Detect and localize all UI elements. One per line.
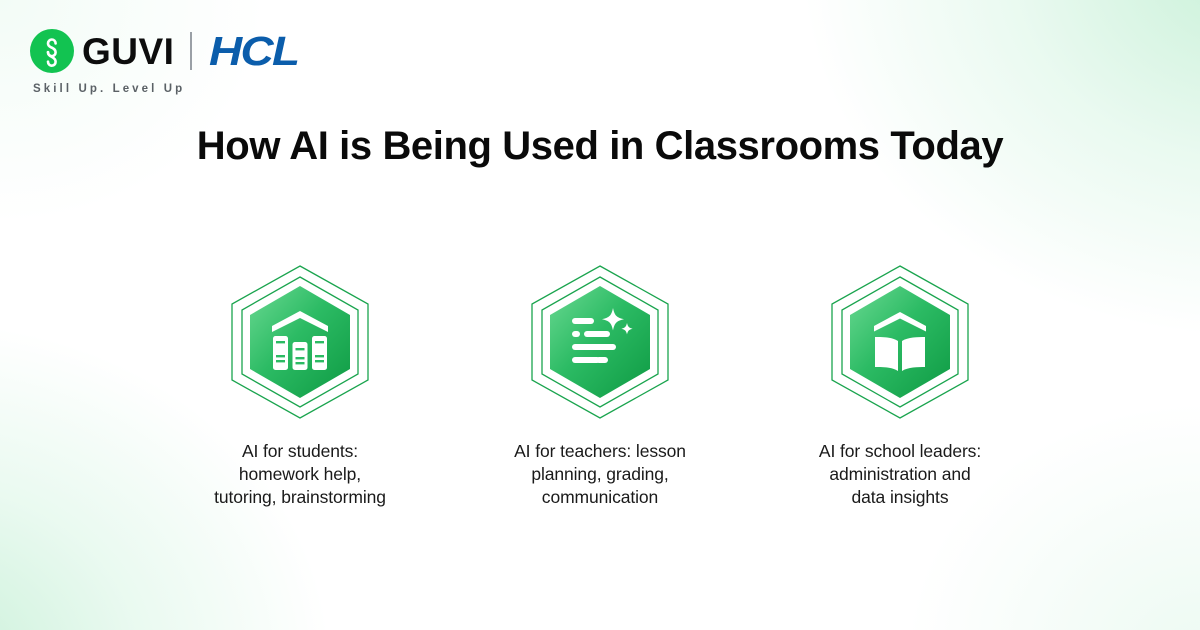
hex-badge-school-leaders: [820, 262, 980, 422]
library-bookshelf-icon: [220, 262, 380, 422]
slide-canvas: GUVI HCL Skill Up. Level Up How AI is Be…: [0, 0, 1200, 630]
page-title: How AI is Being Used in Classrooms Today: [0, 124, 1200, 168]
feature-card-teachers: AI for teachers: lesson planning, gradin…: [466, 262, 734, 509]
guvi-wordmark: GUVI: [82, 33, 174, 70]
logo-divider: [190, 32, 192, 70]
feature-card-students: AI for students: homework help, tutoring…: [166, 262, 434, 509]
brand-tagline: Skill Up. Level Up: [33, 83, 185, 95]
hex-badge-students: [220, 262, 380, 422]
feature-card-caption: AI for teachers: lesson planning, gradin…: [514, 440, 686, 509]
hex-badge-teachers: [520, 262, 680, 422]
feature-card-school-leaders: AI for school leaders: administration an…: [766, 262, 1034, 509]
brand-logo-bar: GUVI HCL Skill Up. Level Up: [30, 28, 289, 95]
ai-sparkle-document-icon: [520, 262, 680, 422]
feature-card-row: AI for students: homework help, tutoring…: [0, 262, 1200, 509]
hcl-wordmark: HCL: [209, 31, 298, 72]
feature-card-caption: AI for school leaders: administration an…: [819, 440, 981, 509]
guvi-g-mark-icon: [30, 29, 74, 73]
feature-card-caption: AI for students: homework help, tutoring…: [214, 440, 386, 509]
logo-row: GUVI HCL: [30, 28, 289, 74]
open-book-roof-icon: [820, 262, 980, 422]
